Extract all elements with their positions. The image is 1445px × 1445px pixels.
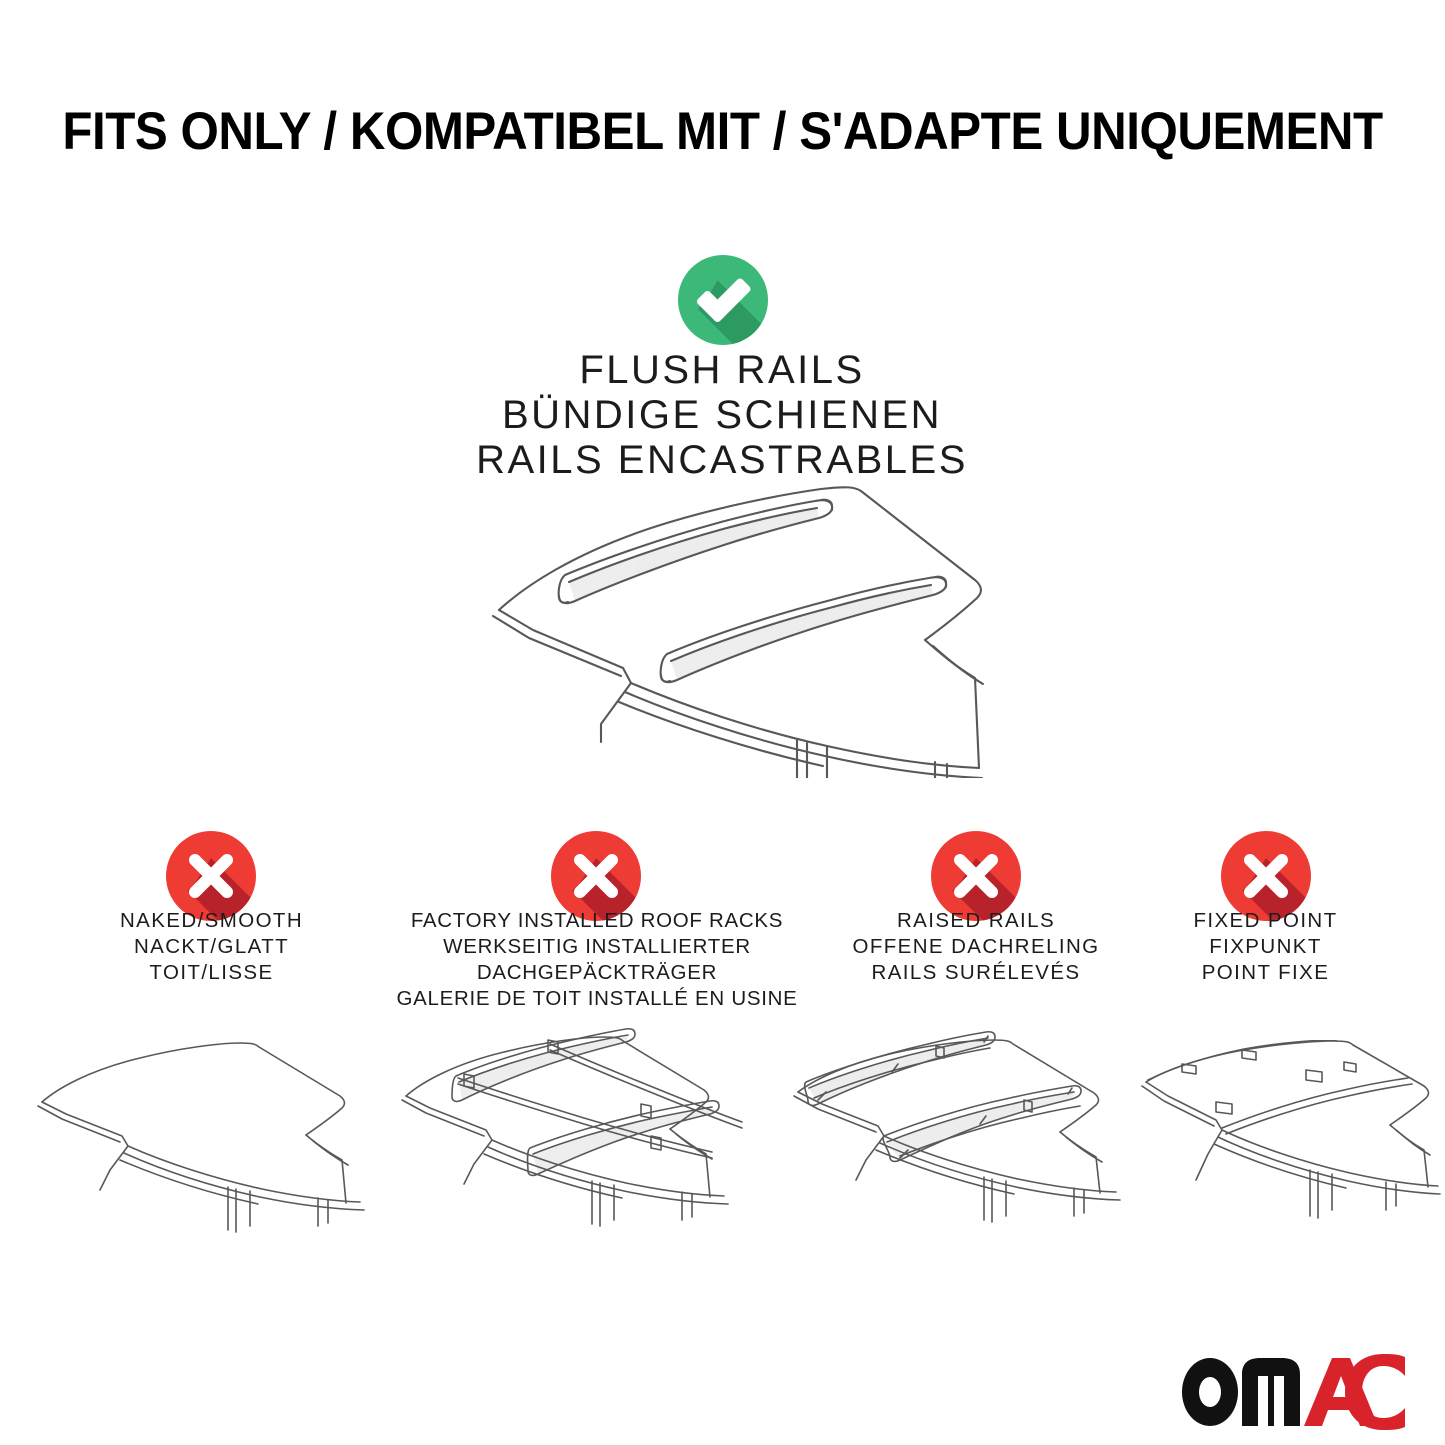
label-line-fr: POINT FIXE bbox=[1118, 960, 1413, 986]
incompatible-label-fixed-point: FIXED POINT FIXPUNKT POINT FIXE bbox=[1118, 908, 1413, 986]
compatible-label: FLUSH RAILS BÜNDIGE SCHIENEN RAILS ENCAS… bbox=[372, 348, 1072, 483]
car-roof-factory-installed-roof-racks-illustration bbox=[398, 1018, 768, 1240]
car-roof-raised-rails-illustration bbox=[788, 1028, 1148, 1240]
compatible-label-line-fr: RAILS ENCASTRABLES bbox=[372, 438, 1072, 483]
incompatible-label-naked-smooth: NAKED/SMOOTH NACKT/GLATT TOIT/LISSE bbox=[45, 908, 378, 986]
label-line-en: FACTORY INSTALLED ROOF RACKS bbox=[372, 908, 822, 934]
label-line-de-2: DACHGEPÄCKTRÄGER bbox=[372, 960, 822, 986]
omac-logo bbox=[1180, 1352, 1405, 1430]
incompatible-label-raised-rails: RAISED RAILS OFFENE DACHRELING RAILS SUR… bbox=[812, 908, 1140, 986]
check-circle-icon bbox=[678, 255, 768, 345]
label-line-de-1: WERKSEITIG INSTALLIERTER bbox=[372, 934, 822, 960]
label-line-de: NACKT/GLATT bbox=[45, 934, 378, 960]
label-line-fr: RAILS SURÉLEVÉS bbox=[812, 960, 1140, 986]
compatible-label-line-en: FLUSH RAILS bbox=[372, 348, 1072, 393]
label-line-fr: TOIT/LISSE bbox=[45, 960, 378, 986]
incompatible-label-factory-racks: FACTORY INSTALLED ROOF RACKS WERKSEITIG … bbox=[372, 908, 822, 1012]
label-line-de: FIXPUNKT bbox=[1118, 934, 1413, 960]
label-line-de: OFFENE DACHRELING bbox=[812, 934, 1140, 960]
label-line-en: NAKED/SMOOTH bbox=[45, 908, 378, 934]
page-title: FITS ONLY / KOMPATIBEL MIT / S'ADAPTE UN… bbox=[51, 103, 1395, 161]
label-line-fr: GALERIE DE TOIT INSTALLÉ EN USINE bbox=[372, 986, 822, 1012]
car-roof-fixed-point-illustration bbox=[1138, 1040, 1443, 1240]
car-roof-naked-smooth-illustration bbox=[28, 1040, 378, 1240]
label-line-en: FIXED POINT bbox=[1118, 908, 1413, 934]
car-roof-with-flush-rails-illustration bbox=[455, 478, 1015, 778]
label-line-en: RAISED RAILS bbox=[812, 908, 1140, 934]
compatible-label-line-de: BÜNDIGE SCHIENEN bbox=[372, 393, 1072, 438]
